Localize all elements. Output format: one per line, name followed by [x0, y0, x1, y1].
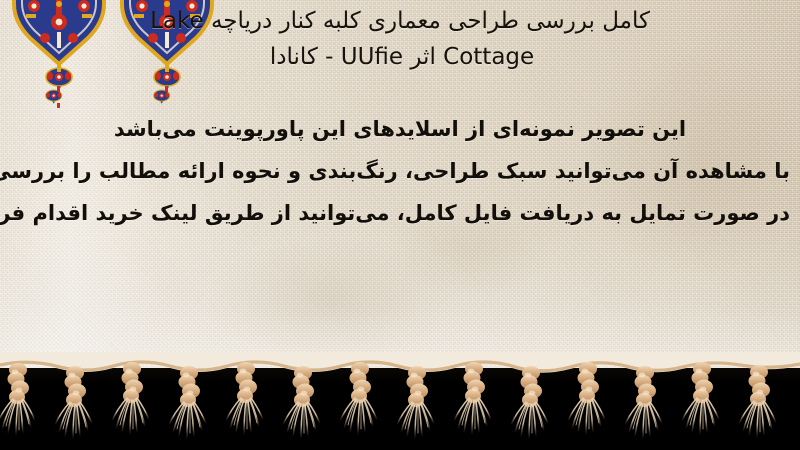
page-title: کامل بررسی طراحی معماری کلبه کنار دریاچه…	[0, 3, 800, 75]
slide-canvas: کامل بررسی طراحی معماری کلبه کنار دریاچه…	[0, 0, 800, 450]
body-line-1: این تصویر نمونه‌ای از اسلایدهای این پاور…	[10, 108, 790, 150]
title-line-1: کامل بررسی طراحی معماری کلبه کنار دریاچه…	[14, 3, 786, 39]
body-line-2: با مشاهده آن می‌توانید سبک طراحی، رنگ‌بن…	[10, 150, 790, 192]
carpet-fringe-tassels	[0, 352, 800, 450]
title-line-2: Cottage اثر ‎-‎ UUfie کانادا	[14, 39, 786, 75]
body-line-3: در صورت تمایل به دریافت فایل کامل، می‌تو…	[10, 192, 790, 234]
body-text: این تصویر نمونه‌ای از اسلایدهای این پاور…	[0, 108, 800, 234]
slide-text: کامل بررسی طراحی معماری کلبه کنار دریاچه…	[0, 0, 800, 374]
